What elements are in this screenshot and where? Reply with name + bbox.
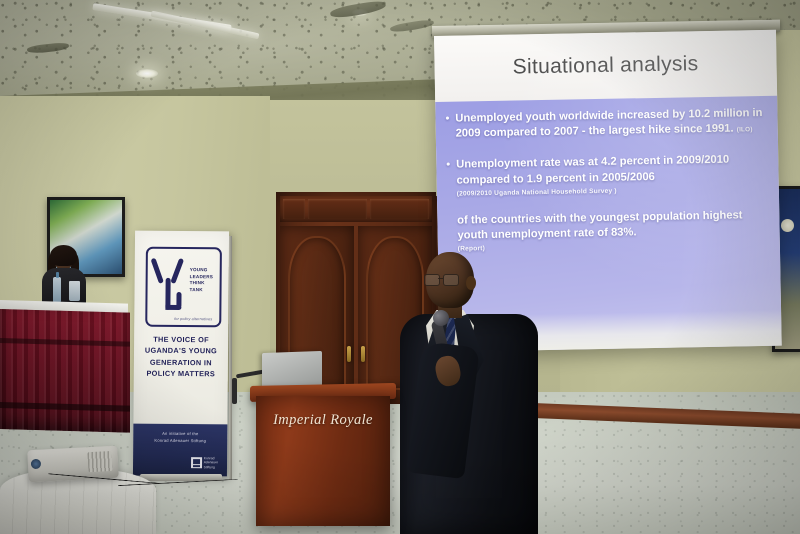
- glasses-bridge: [438, 278, 443, 279]
- projector-vent: [87, 451, 112, 472]
- speaker-ear: [466, 276, 476, 290]
- bullet-text-wrap: of the countries with the youngest popul…: [457, 208, 768, 255]
- slide-title-band: Situational analysis: [434, 30, 777, 102]
- bullet-text-wrap: Unemployed youth worldwide increased by …: [455, 106, 766, 142]
- slide-bullet: • of the countries with the youngest pop…: [447, 208, 768, 255]
- slide-bullet: • Unemployed youth worldwide increased b…: [445, 106, 766, 142]
- eyeglasses-icon: [424, 274, 458, 284]
- water-bottle: [53, 277, 61, 302]
- bullet-marker: •: [446, 158, 451, 199]
- podium-venue-label: Imperial Royale: [256, 412, 390, 429]
- door-handle[interactable]: [361, 346, 365, 362]
- head-table-skirt: [0, 309, 130, 433]
- ceiling-downlight-1: [136, 69, 158, 78]
- slide-title: Situational analysis: [512, 52, 698, 79]
- seated-woman: [38, 248, 90, 306]
- logo-tagline: for policy alternatives: [165, 317, 221, 321]
- banner-support-pole: [229, 236, 232, 480]
- bullet-text: Unemployed youth worldwide increased by …: [455, 107, 762, 140]
- ylt-logo-box: YOUNG LEADERS THINK TANK for policy alte…: [145, 247, 222, 328]
- bullet-text: Unemployment rate was at 4.2 percent in …: [456, 154, 729, 186]
- bullet-marker: •: [445, 112, 449, 143]
- skirt-pleats: [0, 309, 130, 433]
- footer-line-2: Konrad Adenauer Stiftung: [133, 437, 227, 444]
- door-transom-panels: [280, 196, 432, 222]
- laptop-stand-post: [232, 378, 237, 404]
- kas-mark-icon: [191, 457, 202, 468]
- speaker-presenter: [396, 252, 546, 534]
- bullet-text-wrap: Unemployment rate was at 4.2 percent in …: [456, 152, 767, 199]
- conference-presentation-photo: Situational analysis • Unemployed youth …: [0, 0, 800, 534]
- banner-footer-text: An initiative of the Konrad Adenauer Sti…: [133, 431, 227, 445]
- logo-word-tank: TANK: [190, 287, 218, 294]
- lens-left: [424, 274, 440, 286]
- projector-lens: [31, 459, 42, 470]
- banner-headline: THE VOICE OF UGANDA'S YOUNG GENERATION I…: [140, 334, 222, 380]
- slide-bullet: • Unemployment rate was at 4.2 percent i…: [446, 152, 767, 199]
- door-handle[interactable]: [347, 346, 351, 362]
- drinking-glass: [69, 281, 80, 301]
- projector[interactable]: [27, 446, 119, 483]
- woman-hair: [50, 245, 77, 266]
- kas-logo: KonradAdenauerStiftung: [191, 456, 218, 471]
- bullet-source: (ILO): [737, 126, 753, 133]
- ylt-logo-words: YOUNG LEADERS THINK TANK: [190, 267, 218, 293]
- banner-footer: An initiative of the Konrad Adenauer Sti…: [133, 424, 227, 477]
- podium: Imperial Royale: [256, 396, 390, 526]
- lens-right: [443, 274, 459, 286]
- bullet-text: of the countries with the youngest popul…: [457, 209, 742, 241]
- roll-up-banner: YOUNG LEADERS THINK TANK for policy alte…: [133, 231, 229, 477]
- bullet-source: (2009/2010 Uganda National Household Sur…: [457, 185, 767, 200]
- kas-logo-text: KonradAdenauerStiftung: [204, 456, 218, 470]
- y-monogram-icon: [154, 256, 186, 312]
